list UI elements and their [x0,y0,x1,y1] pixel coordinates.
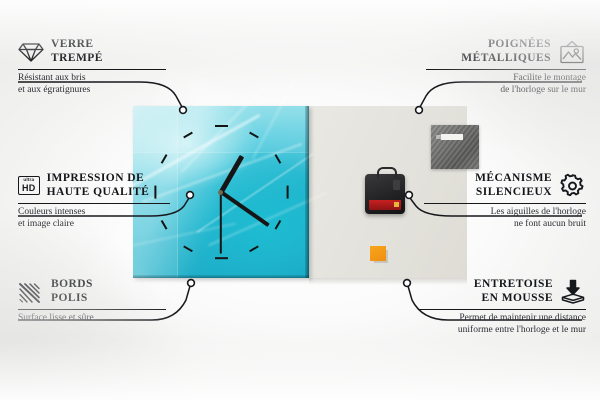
callout-title: VERRE TREMPÉ [51,38,103,65]
callout-title: ENTRETOISE EN MOUSSE [474,278,553,305]
movement-button [393,180,400,190]
minute-hand [220,190,270,227]
hour-marker [215,125,228,127]
callout-header: MÉCANISME SILENCIEUX [424,172,586,199]
hour-marker [275,154,282,164]
metal-hanger-plate [431,125,479,169]
callout-title: MÉCANISME SILENCIEUX [475,172,552,199]
battery [369,200,401,210]
foam-spacer-arrow-icon [560,279,586,305]
callout-subtitle: Couleurs intenses et image claire [18,207,170,230]
movement-hook [377,167,397,178]
gear-icon [559,173,586,199]
callout-entretoise-en-mousse: ENTRETOISE EN MOUSSE Permet de maintenir… [418,278,586,336]
hour-marker [286,185,288,198]
callout-mecanisme-silencieux: MÉCANISME SILENCIEUX Les aiguilles de l'… [424,172,586,230]
callout-header: ENTRETOISE EN MOUSSE [418,278,586,305]
callout-header: BORDS POLIS [18,278,166,305]
picture-frame-hanging-icon [558,40,586,64]
callout-rule [424,203,586,204]
polished-edge-icon [18,281,44,303]
callout-rule [18,203,170,204]
infographic-page: VERRE TREMPÉ Résistant aux bris et aux é… [0,0,600,400]
callout-header: POIGNÉES MÉTALLIQUES [426,38,586,65]
hour-marker [215,257,228,259]
callout-title: BORDS POLIS [51,278,93,305]
second-hand [220,192,222,254]
callout-subtitle: Permet de maintenir une distance uniform… [418,313,586,336]
callout-rule [18,69,166,70]
hanger-slot [441,134,463,140]
diamond-icon [18,41,44,63]
callout-verre-trempe: VERRE TREMPÉ Résistant aux bris et aux é… [18,38,166,96]
callout-title: POIGNÉES MÉTALLIQUES [461,38,551,65]
callout-rule [18,309,166,310]
callout-poignees-metalliques: POIGNÉES MÉTALLIQUES Facilite le montage… [426,38,586,96]
callout-subtitle: Résistant aux bris et aux égratignures [18,73,166,96]
ultra-hd-icon: ultra HD [18,176,40,194]
foam-spacer [370,246,386,261]
glass-edge-right [305,106,309,278]
callout-impression-haute-qualite: ultra HD IMPRESSION DE HAUTE QUALITÉ Cou… [18,172,170,230]
callout-subtitle: Les aiguilles de l'horloge ne font aucun… [424,207,586,230]
callout-title: IMPRESSION DE HAUTE QUALITÉ [47,172,150,199]
callout-subtitle: Facilite le montage de l'horloge sur le … [426,73,586,96]
hour-marker [249,246,259,253]
product-photo [133,106,467,278]
clock-hub [218,190,223,195]
callout-header: ultra HD IMPRESSION DE HAUTE QUALITÉ [18,172,170,199]
quartz-movement [365,174,405,214]
callout-header: VERRE TREMPÉ [18,38,166,65]
callout-rule [418,309,586,310]
ultra-hd-icon-hd: HD [22,184,36,193]
hour-marker [275,220,282,230]
callout-subtitle: Surface lisse et sûre [18,313,166,325]
callout-rule [426,69,586,70]
callout-bords-polis: BORDS POLIS Surface lisse et sûre [18,278,166,325]
